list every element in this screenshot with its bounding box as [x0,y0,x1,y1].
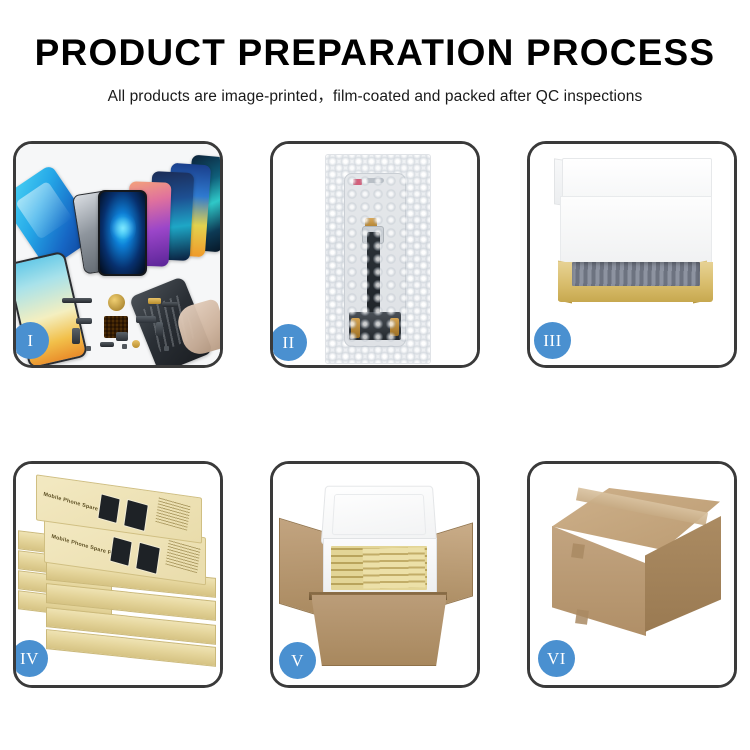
lcd-screen-icon [344,173,406,347]
stacked-gold-boxes-inside-right-icon [363,547,426,588]
step-badge-3: III [534,322,571,359]
step-badge-2: II [270,324,307,361]
step-badge-6: VI [538,640,575,677]
tape-tab-upper-icon [571,543,585,559]
step-badge-1: I [13,322,49,359]
page-subtitle: All products are image-printed，film-coat… [0,84,750,106]
process-step-panel-6[interactable]: VI [527,461,737,688]
page-header: PRODUCT PREPARATION PROCESS All products… [0,0,750,106]
process-step-panel-4[interactable]: Mobile Phone Spare Parts Mobile Phone Sp… [13,461,223,688]
spare-parts-cluster [62,294,192,356]
white-foam-sheet-icon [560,196,712,266]
bubble-wrap-bag-icon [325,154,431,364]
tape-tab-lower-icon [575,609,589,625]
process-step-panel-2[interactable]: II [270,141,480,368]
bubble-wrapped-contents-icon [572,262,700,286]
step-badge-5: V [279,642,316,679]
carton-body-icon [311,594,447,666]
process-step-panel-1[interactable]: I [13,141,223,368]
page-title: PRODUCT PREPARATION PROCESS [0,34,750,73]
process-step-panel-3[interactable]: III [527,141,737,368]
process-step-grid: I II [13,141,737,688]
foam-lid-icon [321,486,438,545]
jellyfish-wallpaper-phone-icon [98,190,147,276]
process-step-panel-5[interactable]: V [270,461,480,688]
